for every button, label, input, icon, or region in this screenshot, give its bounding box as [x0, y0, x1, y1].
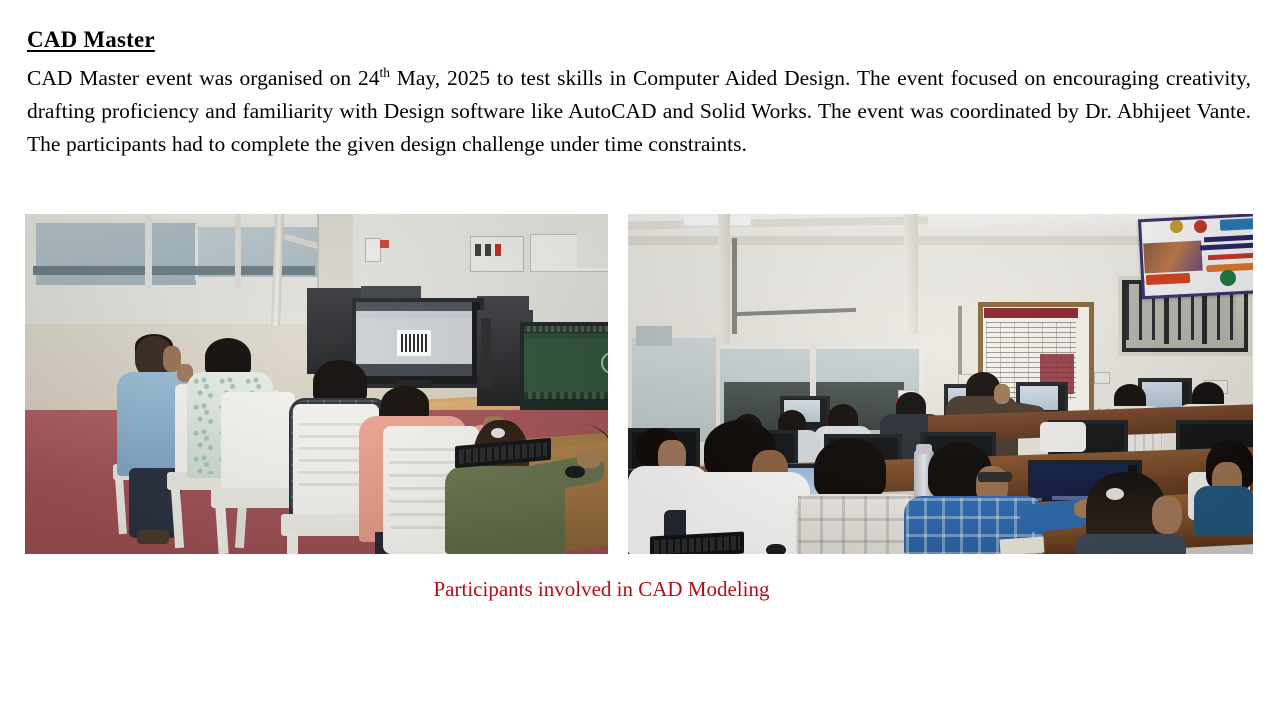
body-paragraph: CAD Master event was organised on 24th M…: [27, 62, 1251, 161]
photo-caption: Participants involved in CAD Modeling: [25, 577, 1178, 602]
person-front-5-top: [1076, 534, 1186, 554]
photo-right-scene: [628, 214, 1253, 554]
event-banner-logo-eduskills: [1220, 218, 1253, 231]
photo-left-scene: [25, 214, 608, 554]
partition-post-b: [235, 214, 241, 288]
paper-sheet-1: [999, 536, 1044, 554]
mouse-left: [766, 544, 786, 554]
person-front-5-hair-tie: [1106, 488, 1124, 500]
electrical-switch-red: [495, 244, 501, 256]
electrical-conduit-1: [732, 238, 737, 334]
monitor-row1-3-screen: [1142, 382, 1182, 408]
glass-partition-pane: [33, 220, 199, 288]
cable: [555, 424, 608, 484]
wall-switch-indicator: [380, 240, 389, 248]
person-back-1-face: [994, 384, 1010, 404]
ordinal-superscript: th: [380, 65, 390, 80]
wall-vent: [577, 216, 608, 268]
person-2-hair: [205, 338, 251, 376]
photo-right-computer-lab: [628, 214, 1253, 554]
cad-taskbar: [524, 392, 608, 399]
event-banner-image: [1143, 241, 1202, 274]
computer-tower-front-vent: [481, 318, 491, 388]
partition-post-a: [145, 214, 152, 292]
person-front-5-face: [1152, 496, 1182, 534]
ceiling-light: [684, 216, 750, 225]
wall-socket-1: [1094, 372, 1110, 384]
chair-4-leg: [287, 532, 298, 554]
notice-board-header: [984, 308, 1078, 318]
structural-column-2: [904, 214, 918, 334]
photo-left-cad-lab: [25, 214, 608, 554]
wall-switch-box: [365, 238, 381, 262]
body-text-before-superscript: CAD Master event was organised on 24: [27, 66, 380, 90]
water-flask-cap: [916, 444, 932, 454]
person-1-shoe: [137, 530, 169, 544]
window-small-left: [636, 326, 672, 346]
page-title: CAD Master: [27, 27, 155, 52]
person-front-6-shirt: [1194, 486, 1253, 536]
eyeglasses: [978, 472, 1012, 482]
chair-back-row: [1040, 422, 1086, 452]
person-front-3-hair: [814, 438, 886, 500]
cad-toolbar: [524, 326, 608, 332]
chair-3-back: [221, 392, 295, 496]
electrical-switch-1: [475, 244, 481, 256]
person-5-hair-tie: [491, 428, 505, 438]
electrical-switch-2: [485, 244, 491, 256]
cad-drawing-detail: [401, 334, 427, 352]
document-page: CAD Master CAD Master event was organise…: [0, 0, 1280, 720]
